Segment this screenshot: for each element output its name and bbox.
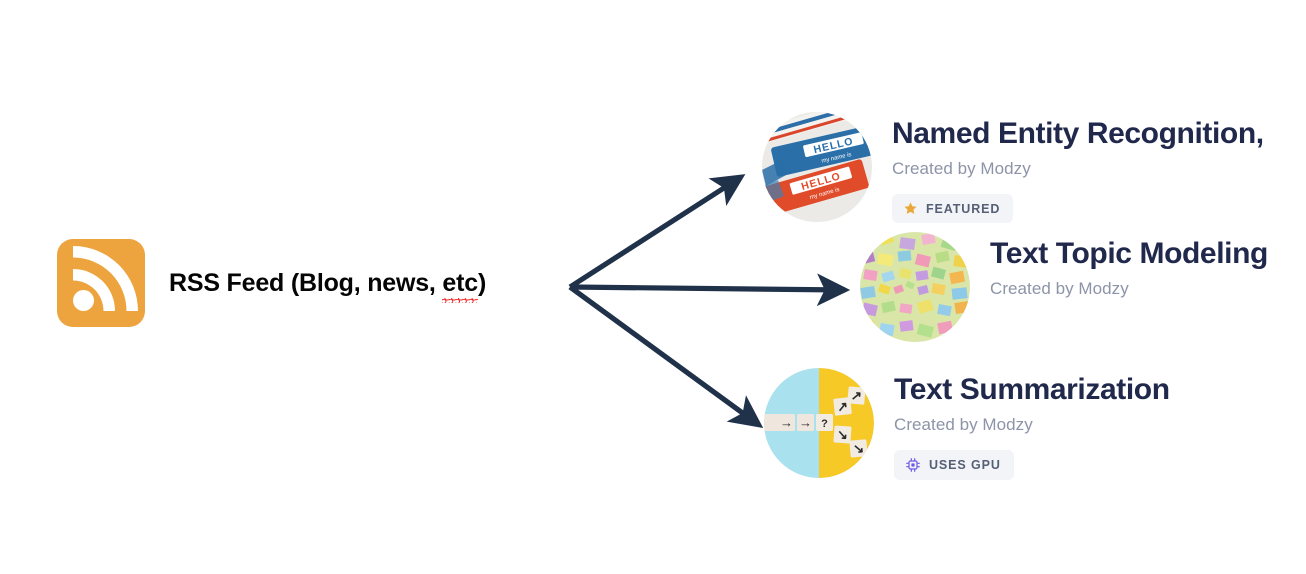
badge-label: FEATURED — [926, 202, 1000, 216]
rss-icon — [57, 239, 145, 327]
thumbnail-hello-my-name-is-tags: HELLO my name is HELLO my name is — [762, 112, 872, 222]
thumbnail-arrow-tiles-cyan-yellow: → → ? ↗ ↗ — [764, 368, 874, 478]
source-node-rss-feed: RSS Feed (Blog, news, etc) — [57, 239, 486, 327]
model-card-named-entity-recognition[interactable]: HELLO my name is HELLO my name is Named … — [762, 112, 1264, 223]
arrow-to-text-summarization — [570, 287, 759, 425]
card-subtitle: Created by Modzy — [990, 279, 1268, 299]
star-icon — [903, 201, 918, 216]
svg-text:↗: ↗ — [836, 398, 848, 414]
source-label-misspelled-word: etc — [442, 269, 478, 298]
badge-label: USES GPU — [929, 458, 1001, 472]
source-label-suffix: ) — [478, 269, 486, 297]
arrow-to-text-topic-modeling — [570, 287, 845, 290]
arrow-to-named-entity-recognition — [570, 177, 741, 287]
card-subtitle: Created by Modzy — [894, 415, 1170, 435]
status-badge-uses-gpu[interactable]: USES GPU — [894, 450, 1014, 480]
thumbnail-colorful-sticky-notes — [860, 232, 970, 342]
source-label-prefix: RSS Feed (Blog, news, — [169, 269, 442, 297]
card-title: Text Summarization — [894, 374, 1170, 406]
source-label: RSS Feed (Blog, news, etc) — [169, 269, 486, 298]
svg-text:?: ? — [821, 418, 828, 430]
svg-text:↗: ↗ — [850, 388, 862, 404]
model-card-text-topic-modeling[interactable]: Text Topic Modeling Created by Modzy — [860, 232, 1268, 342]
card-body: Text Topic Modeling Created by Modzy — [970, 232, 1268, 299]
chip-icon — [905, 457, 921, 473]
svg-text:↘: ↘ — [837, 427, 849, 443]
card-subtitle: Created by Modzy — [892, 159, 1264, 179]
status-badge-featured[interactable]: FEATURED — [892, 194, 1013, 223]
diagram-canvas: RSS Feed (Blog, news, etc) HELLO my name… — [0, 0, 1306, 574]
card-body: Named Entity Recognition, Created by Mod… — [872, 112, 1264, 223]
svg-text:→: → — [780, 415, 793, 430]
svg-text:→: → — [799, 415, 812, 430]
card-title: Text Topic Modeling — [990, 238, 1268, 270]
svg-text:↘: ↘ — [852, 441, 864, 457]
card-body: Text Summarization Created by Modzy — [874, 368, 1170, 480]
card-title: Named Entity Recognition, — [892, 118, 1264, 150]
model-card-text-summarization[interactable]: → → ? ↗ ↗ — [764, 368, 1170, 480]
